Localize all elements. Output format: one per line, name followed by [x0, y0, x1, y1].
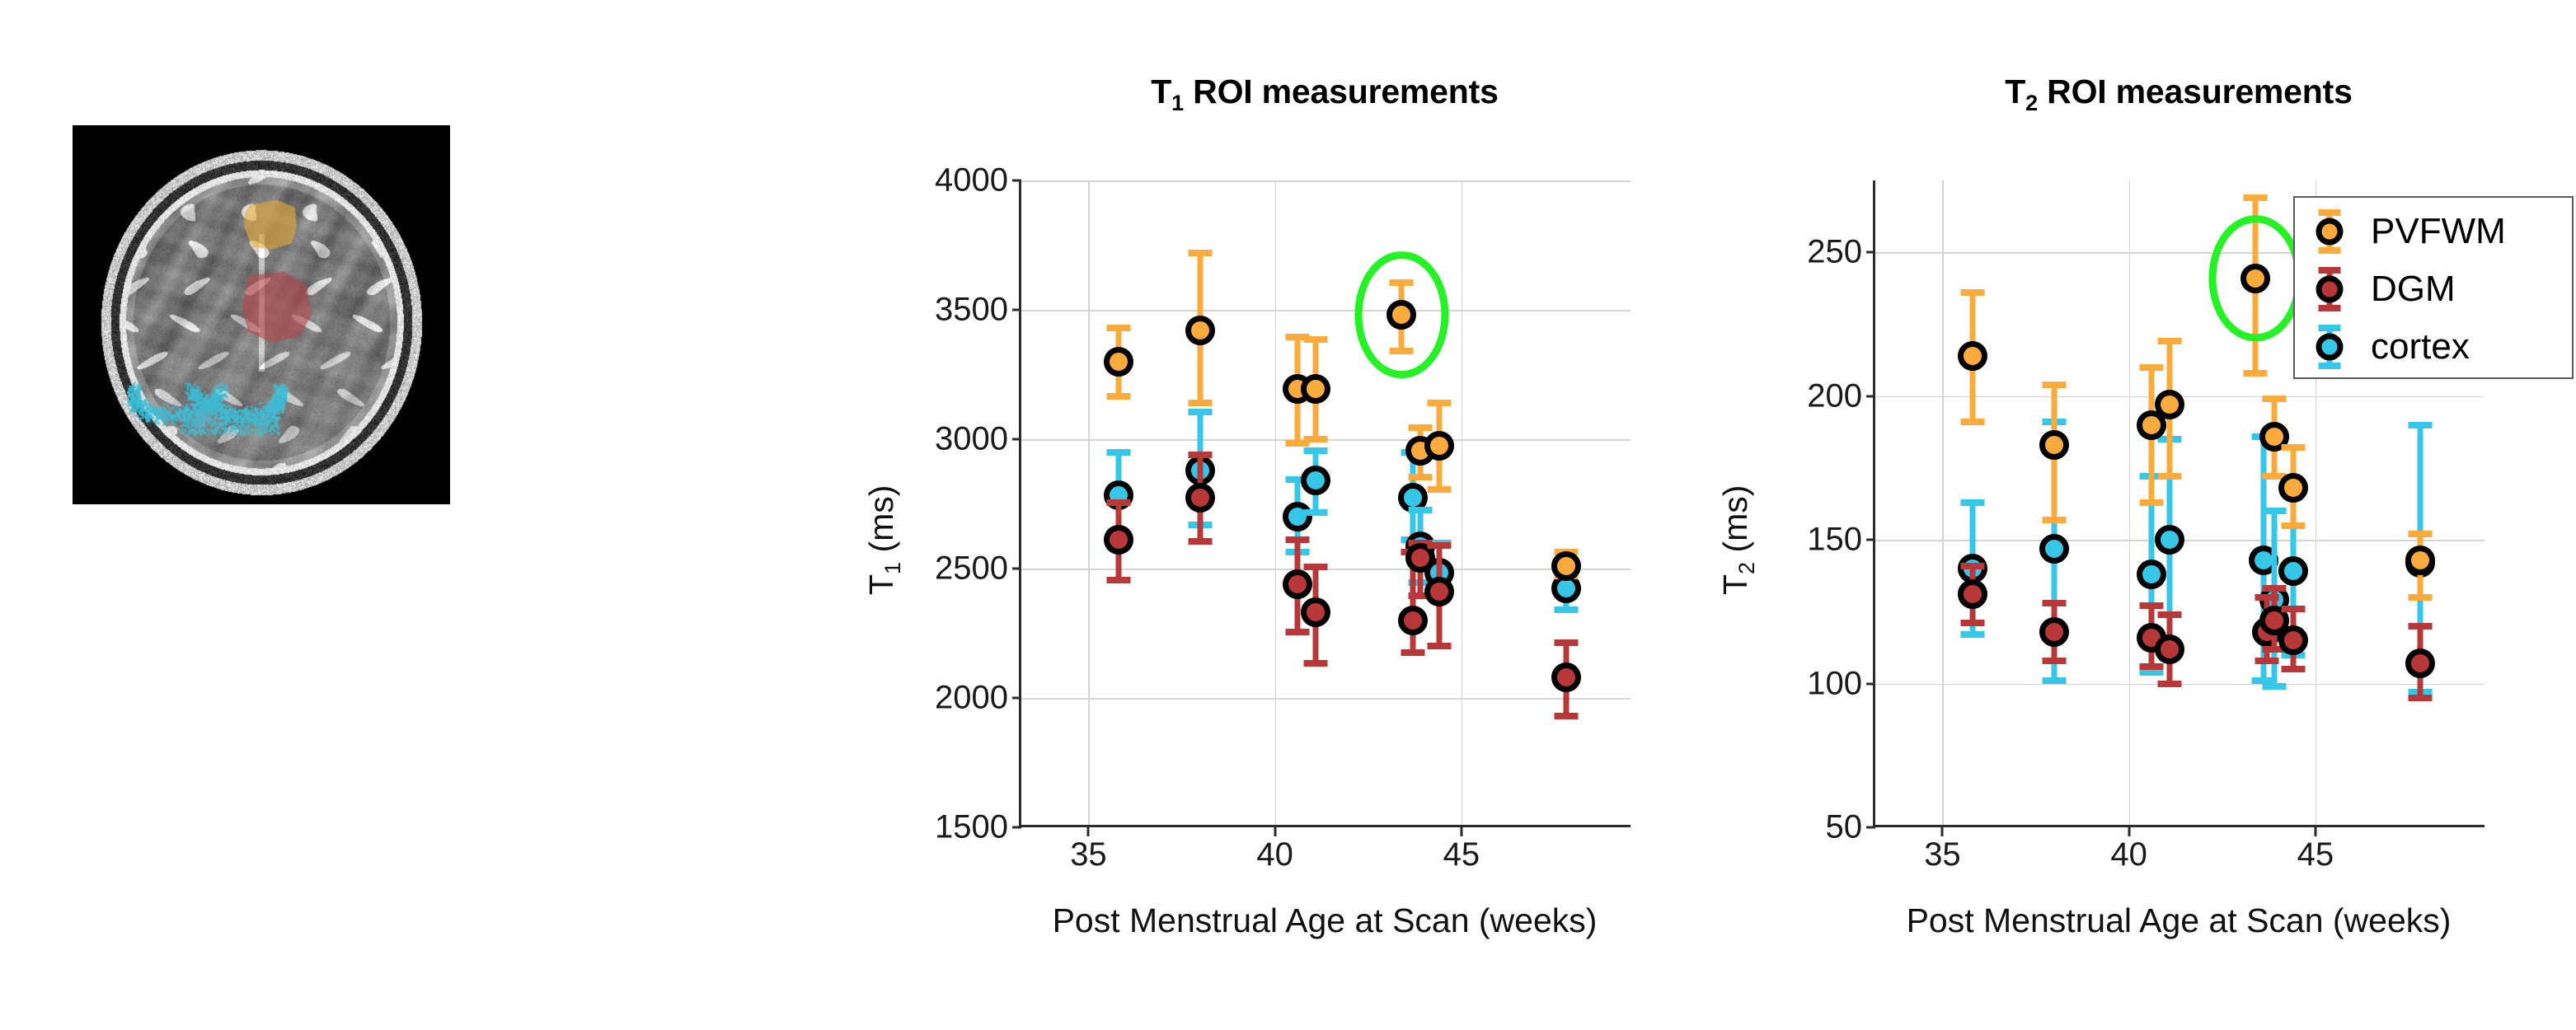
data-point-dgm	[2275, 622, 2311, 658]
data-point-pvfwm	[2402, 542, 2438, 578]
error-bar-cap-upper	[2158, 338, 2182, 344]
error-bar-cap-upper	[2263, 585, 2287, 592]
error-bar-cap-lower	[2158, 681, 2182, 687]
t1-y-axis-label: T1 (ms)	[862, 485, 906, 594]
data-point-dgm	[1297, 594, 1334, 630]
legend-label: PVFWM	[2371, 211, 2506, 252]
error-bar-cap-upper	[1106, 325, 1130, 331]
error-bar-cap-upper	[2139, 602, 2163, 609]
marker-dgm	[1104, 525, 1133, 555]
t1-chart-panel: T1 ROI measurements150020002500300035004…	[975, 0, 1651, 890]
error-bar-cap-upper	[2043, 600, 2067, 606]
marker-pvfwm	[2155, 390, 2184, 419]
error-bar-cap-lower	[1554, 713, 1578, 719]
data-point-pvfwm	[1421, 428, 1457, 464]
y-tick-mark	[1012, 697, 1021, 700]
highlight-circle-annotation	[1355, 251, 1448, 378]
gridline-horizontal	[1021, 310, 1631, 311]
y-tick-mark	[1866, 826, 1875, 829]
y-tick-label-2500: 2500	[935, 550, 1008, 588]
data-point-pvfwm	[1297, 371, 1334, 407]
x-tick-mark	[2314, 827, 2316, 836]
marker-dgm	[1301, 597, 1330, 627]
marker-cortex	[1301, 466, 1330, 495]
gridline-vertical	[2129, 180, 2131, 825]
legend-cap-upper	[2319, 325, 2341, 331]
y-tick-label-3000: 3000	[935, 421, 1008, 458]
legend-label: cortex	[2371, 326, 2470, 368]
error-bar-cap-lower	[2043, 658, 2067, 664]
error-bar-cap-upper	[1106, 499, 1130, 506]
data-point-dgm	[1954, 576, 1991, 612]
error-bar-cap-lower	[1304, 660, 1328, 667]
error-bar-cap-upper	[1189, 452, 1213, 458]
y-tick-mark	[1012, 180, 1021, 182]
y-tick-mark	[1866, 251, 1875, 254]
marker-pvfwm	[2405, 545, 2435, 575]
legend-marker-dot	[2316, 334, 2344, 361]
x-tick-mark	[2128, 827, 2130, 836]
data-point-cortex	[2036, 531, 2072, 567]
data-point-cortex	[2275, 553, 2311, 589]
marker-dgm	[1551, 662, 1581, 692]
t1-x-axis-label: Post Menstrual Age at Scan (weeks)	[969, 901, 1680, 940]
error-bar-cap-lower	[1554, 606, 1578, 613]
y-tick-mark	[1866, 395, 1875, 397]
data-point-cortex	[2151, 522, 2188, 558]
marker-cortex	[1283, 502, 1312, 531]
x-tick-mark	[1087, 827, 1090, 836]
legend-cap-lower	[2319, 247, 2341, 254]
error-bar-cap-lower	[1106, 393, 1130, 400]
y-tick-label-50: 50	[1826, 809, 1863, 846]
error-bar-cap-upper	[2408, 531, 2432, 537]
figure-root: T1 ROI measurements150020002500300035004…	[0, 0, 2576, 1030]
data-point-dgm	[2036, 614, 2072, 650]
data-point-dgm	[1548, 659, 1584, 695]
x-tick-label-35: 35	[1070, 836, 1107, 873]
data-point-dgm	[1421, 574, 1457, 610]
data-point-pvfwm	[1100, 344, 1137, 380]
error-bar-cap-upper	[1189, 250, 1213, 256]
error-bar-cap-lower	[1427, 643, 1451, 649]
legend-marker-icon	[2306, 264, 2353, 315]
data-point-pvfwm	[2151, 386, 2188, 423]
error-bar-cap-lower	[1960, 631, 1984, 638]
legend-item-dgm[interactable]: DGM	[2306, 264, 2456, 315]
y-tick-label-200: 200	[1807, 377, 1862, 414]
marker-dgm	[2155, 634, 2184, 664]
error-bar-cap-upper	[2408, 422, 2432, 428]
marker-pvfwm	[1104, 347, 1133, 377]
marker-cortex	[2039, 534, 2069, 564]
error-bar-cap-upper	[1409, 507, 1433, 513]
gridline-vertical	[1088, 180, 1090, 825]
error-bar-cap-lower	[2263, 683, 2287, 690]
x-tick-label-40: 40	[1256, 836, 1293, 873]
error-bar-cap-upper	[1304, 564, 1328, 570]
marker-cortex	[2155, 525, 2184, 555]
error-bar-cap-lower	[1189, 400, 1213, 406]
legend-label: DGM	[2371, 269, 2456, 310]
t2-chart-title: T2 ROI measurements	[1832, 73, 2526, 116]
marker-dgm	[1958, 579, 1987, 609]
error-bar-cap-lower	[1401, 649, 1425, 656]
error-bar-cap-upper	[2244, 194, 2268, 201]
data-point-cortex	[1279, 499, 1316, 535]
x-tick-label-45: 45	[2297, 836, 2334, 873]
data-point-cortex	[1297, 462, 1334, 499]
data-point-dgm	[2402, 645, 2438, 681]
marker-dgm	[2278, 625, 2308, 655]
marker-cortex	[2137, 559, 2166, 589]
error-bar-cap-upper	[1427, 400, 1451, 406]
y-tick-label-100: 100	[1807, 665, 1862, 702]
legend-cap-upper	[2319, 209, 2341, 216]
error-bar-cap-lower	[1189, 538, 1213, 545]
error-bar-cap-lower	[1304, 509, 1328, 516]
marker-dgm	[1185, 483, 1215, 513]
error-bar-cap-upper	[2043, 382, 2067, 388]
legend-marker-icon	[2306, 321, 2353, 372]
data-point-pvfwm	[1548, 548, 1584, 584]
t2-y-axis-label: T2 (ms)	[1716, 485, 1760, 594]
data-point-pvfwm	[2275, 470, 2311, 506]
error-bar-cap-lower	[1106, 577, 1130, 583]
t2-x-axis-label: Post Menstrual Age at Scan (weeks)	[1823, 901, 2534, 940]
legend-marker-icon	[2306, 206, 2353, 257]
error-bar-cap-lower	[2043, 677, 2067, 684]
gridline-horizontal	[1021, 698, 1631, 700]
error-bar-cap-lower	[2281, 522, 2305, 529]
brain-mri-panel	[73, 125, 450, 504]
marker-dgm	[2039, 617, 2069, 647]
t1-plot-area: 150020002500300035004000354045	[1019, 180, 1631, 827]
error-bar-cap-lower	[1960, 620, 1984, 626]
marker-dgm	[1424, 577, 1454, 606]
error-bar-cap-upper	[2281, 444, 2305, 451]
legend-cap-upper	[2319, 267, 2341, 274]
t1-chart-title: T1 ROI measurements	[978, 73, 1672, 116]
error-bar-cap-lower	[1304, 436, 1328, 442]
legend-item-pvfwm[interactable]: PVFWM	[2306, 206, 2506, 257]
x-tick-label-45: 45	[1443, 836, 1480, 873]
error-bar-cap-lower	[1409, 474, 1433, 480]
marker-pvfwm	[1551, 551, 1581, 581]
y-tick-label-1500: 1500	[935, 809, 1008, 846]
error-bar-cap-upper	[1285, 536, 1309, 543]
error-bar-cap-lower	[2043, 517, 2067, 523]
gridline-horizontal	[1021, 180, 1631, 182]
y-tick-mark	[1012, 568, 1021, 570]
y-tick-label-150: 150	[1807, 522, 1862, 559]
error-bar-cap-lower	[1960, 419, 1984, 425]
x-tick-mark	[1274, 827, 1276, 836]
legend-item-cortex[interactable]: cortex	[2306, 321, 2470, 372]
x-tick-label-35: 35	[1924, 836, 1961, 873]
error-bar-cap-upper	[1960, 563, 1984, 569]
marker-pvfwm	[1301, 374, 1330, 404]
error-bar-cap-upper	[2408, 623, 2432, 630]
data-point-dgm	[1100, 522, 1137, 558]
error-bar-cap-upper	[1427, 542, 1451, 549]
error-bar-cap-lower	[2244, 370, 2268, 377]
gridline-vertical	[1462, 180, 1463, 825]
error-bar-cap-upper	[2263, 508, 2287, 514]
error-bar-cap-lower	[2281, 666, 2305, 672]
marker-pvfwm	[1958, 341, 1987, 371]
error-bar-cap-lower	[2139, 669, 2163, 676]
error-bar-cap-upper	[2281, 606, 2305, 612]
chart-legend: PVFWMDGMcortex	[2293, 196, 2574, 379]
x-tick-label-40: 40	[2110, 836, 2147, 873]
legend-cap-lower	[2319, 305, 2341, 311]
y-tick-label-3500: 3500	[935, 292, 1008, 329]
y-tick-label-250: 250	[1807, 234, 1862, 271]
marker-dgm	[2405, 648, 2435, 678]
error-bar-cap-lower	[2139, 499, 2163, 506]
data-point-cortex	[2133, 556, 2170, 592]
highlight-circle-annotation	[2209, 215, 2302, 342]
brain-mri-image	[73, 125, 450, 504]
y-tick-label-2000: 2000	[935, 680, 1008, 717]
y-tick-label-4000: 4000	[935, 162, 1008, 199]
error-bar-cap-upper	[2263, 396, 2287, 402]
error-bar-cap-lower	[2408, 594, 2432, 601]
data-point-dgm	[1182, 480, 1218, 516]
y-tick-mark	[1012, 309, 1021, 311]
marker-pvfwm	[1424, 431, 1454, 461]
marker-cortex	[2278, 556, 2308, 586]
marker-pvfwm	[2278, 473, 2308, 503]
error-bar-cap-upper	[1304, 447, 1328, 454]
y-tick-mark	[1012, 438, 1021, 441]
y-tick-mark	[1012, 826, 1021, 829]
error-bar-cap-upper	[1554, 639, 1578, 646]
error-bar-cap-lower	[2158, 473, 2182, 480]
legend-marker-dot	[2316, 276, 2344, 303]
error-bar-cap-upper	[2139, 364, 2163, 371]
data-point-dgm	[2151, 631, 2188, 667]
gridline-vertical	[1275, 180, 1277, 825]
error-bar-cap-upper	[2158, 611, 2182, 618]
error-bar-cap-lower	[1427, 486, 1451, 493]
data-point-pvfwm	[1182, 312, 1218, 349]
error-bar-cap-upper	[1304, 336, 1328, 343]
data-point-pvfwm	[2036, 427, 2072, 463]
marker-pvfwm	[2039, 430, 2069, 460]
error-bar-cap-upper	[1189, 409, 1213, 415]
x-tick-mark	[1460, 827, 1462, 836]
error-bar-cap-lower	[2408, 695, 2432, 701]
legend-cap-lower	[2319, 363, 2341, 369]
error-bar-cap-upper	[1106, 449, 1130, 456]
legend-marker-dot	[2316, 218, 2344, 246]
error-bar-cap-upper	[1960, 499, 1984, 506]
y-tick-mark	[1866, 539, 1875, 541]
data-point-pvfwm	[1954, 338, 1991, 374]
x-tick-mark	[1941, 827, 1944, 836]
gridline-vertical	[1942, 180, 1944, 825]
t2-chart-panel: T2 ROI measurements50100150200250354045T…	[1729, 0, 2570, 890]
y-tick-mark	[1866, 682, 1875, 685]
marker-pvfwm	[1185, 316, 1215, 345]
error-bar-cap-upper	[1960, 289, 1984, 296]
